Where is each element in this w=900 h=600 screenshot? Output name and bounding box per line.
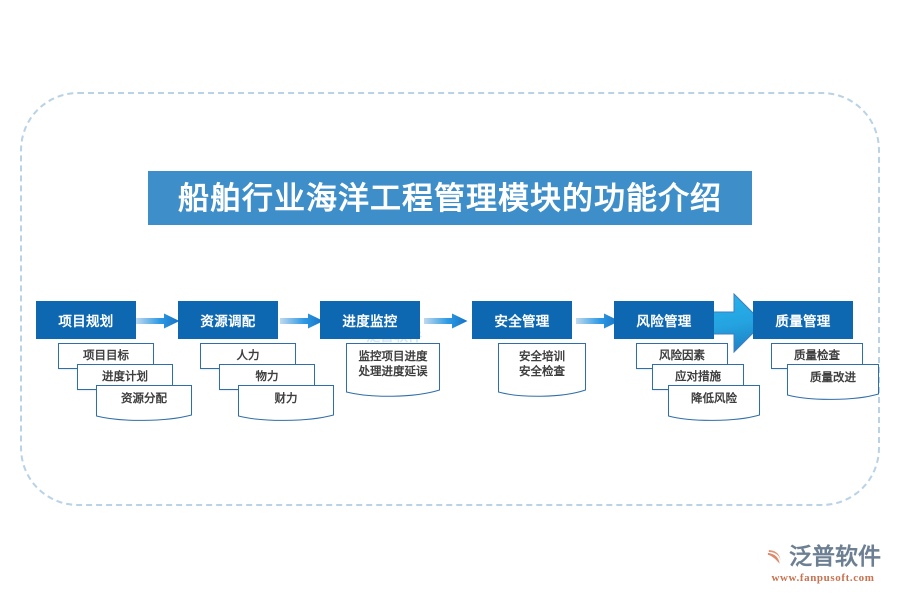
process-step-5-cards: 风险因素 应对措施 降低风险 — [614, 339, 774, 419]
card-label: 项目目标 — [83, 349, 129, 364]
process-step-2-label: 资源调配 — [200, 310, 255, 330]
card-label: 应对措施 — [675, 370, 721, 385]
process-step-1[interactable]: 项目规划 — [36, 301, 136, 339]
card-label: 财力 — [275, 392, 298, 407]
process-step-4[interactable]: 安全管理 — [472, 301, 572, 339]
card-label: 安全培训安全检查 — [519, 350, 565, 379]
card-label: 质量检查 — [794, 349, 840, 364]
process-step-5-label: 风险管理 — [636, 310, 691, 330]
arrow-right-small-2 — [280, 313, 324, 329]
logo-row: 泛普软件 — [757, 541, 889, 571]
card-line-2: 安全检查 — [519, 366, 565, 378]
process-step-6-label: 质量管理 — [775, 310, 830, 330]
card-label: 降低风险 — [691, 392, 737, 407]
process-step-3-cards: 监控项目进度处理进度延误 — [320, 339, 480, 419]
list-item[interactable]: 质量改进 — [787, 364, 879, 392]
card-label: 物力 — [256, 370, 279, 385]
logo-name: 泛普软件 — [789, 545, 881, 568]
process-step-4-label: 安全管理 — [494, 310, 549, 330]
card-label: 监控项目进度处理进度延误 — [359, 350, 428, 379]
arrow-right-small-1 — [136, 313, 180, 329]
card-line-1: 安全培训 — [519, 351, 565, 363]
diagram-canvas: 船舶行业海洋工程管理模块的功能介绍 项目规划 项目目标 进度计划 资源分配 — [0, 0, 900, 600]
card-label: 进度计划 — [102, 370, 148, 385]
logo-url: www.fanpusoft.com — [757, 572, 889, 584]
process-flow: 项目规划 项目目标 进度计划 资源分配 — [0, 0, 900, 600]
process-step-6-cards: 质量检查 质量改进 — [753, 339, 900, 419]
process-step-3-label: 进度监控 — [342, 310, 397, 330]
card-label: 人力 — [237, 349, 260, 364]
process-step-1-cards: 项目目标 进度计划 资源分配 — [36, 339, 196, 419]
brand-logo: 泛普软件 www.fanpusoft.com — [757, 541, 889, 586]
process-step-5[interactable]: 风险管理 — [614, 301, 714, 339]
list-item[interactable]: 监控项目进度处理进度延误 — [346, 343, 440, 387]
card-line-1: 监控项目进度 — [359, 351, 428, 363]
card-label: 资源分配 — [121, 392, 167, 407]
process-step-1-label: 项目规划 — [58, 310, 113, 330]
card-label: 风险因素 — [659, 349, 705, 364]
list-item[interactable]: 降低风险 — [668, 385, 760, 413]
card-line-2: 处理进度延误 — [359, 366, 428, 378]
process-step-6[interactable]: 质量管理 — [753, 301, 853, 339]
card-label: 质量改进 — [810, 371, 856, 386]
fanpu-swoosh-icon — [757, 542, 786, 571]
process-step-2-cards: 人力 物力 财力 — [178, 339, 338, 419]
process-step-2[interactable]: 资源调配 — [178, 301, 278, 339]
list-item[interactable]: 安全培训安全检查 — [498, 343, 586, 387]
process-step-3[interactable]: 进度监控 — [320, 301, 420, 339]
process-step-4-cards: 安全培训安全检查 — [472, 339, 632, 419]
